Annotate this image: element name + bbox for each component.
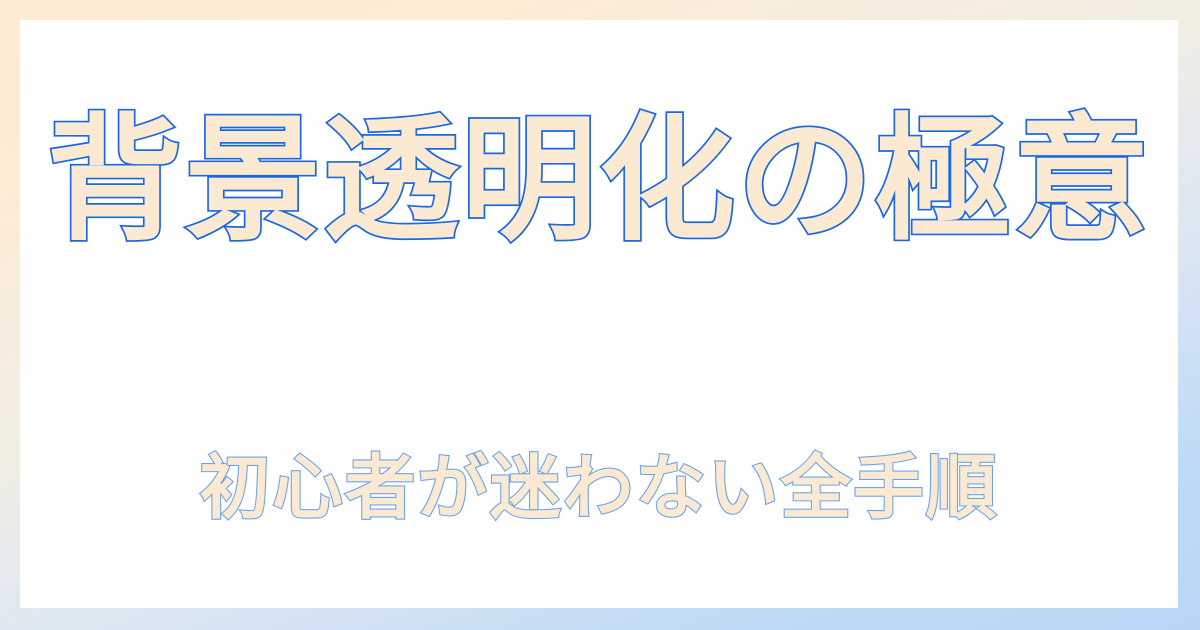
page-subtitle: 初心者が迷わない全手順 (200, 449, 999, 527)
white-card: 背景透明化の極意 初心者が迷わない全手順 (20, 20, 1178, 608)
page-title: 背景透明化の極意 (47, 108, 1152, 255)
title-container: 背景透明化の極意 (20, 20, 1178, 346)
poster-canvas: 背景透明化の極意 初心者が迷わない全手順 (0, 0, 1200, 630)
subtitle-container: 初心者が迷わない全手順 (20, 390, 1178, 585)
